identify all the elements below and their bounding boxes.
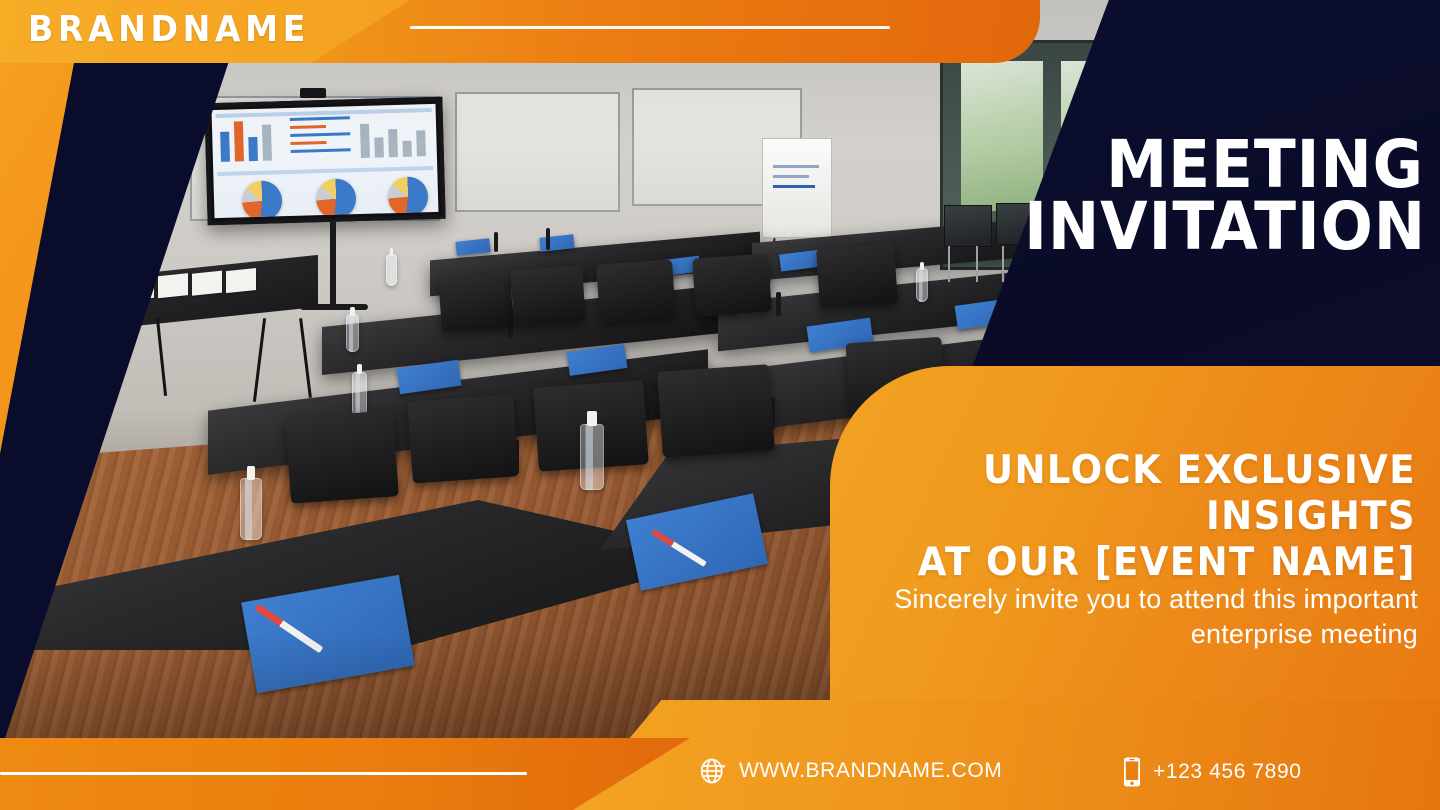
office-chair xyxy=(692,253,772,316)
whiteboard xyxy=(455,92,620,212)
screen-stand xyxy=(330,222,336,308)
bar-chart xyxy=(360,110,426,158)
progress-bars xyxy=(290,116,351,158)
water-bottle xyxy=(352,372,367,416)
website-text: WWW.BRANDNAME.COM xyxy=(739,759,1002,783)
video-camera xyxy=(300,88,326,98)
water-bottle xyxy=(580,424,604,490)
subtext-line-1: Sincerely invite you to attend this impo… xyxy=(894,584,1418,614)
title-line-1: MEETING xyxy=(1024,134,1424,196)
pie-chart xyxy=(387,176,428,217)
flip-chart xyxy=(762,138,832,238)
microphone xyxy=(494,232,498,252)
subtext-line-2: enterprise meeting xyxy=(818,617,1418,652)
microphone xyxy=(776,292,781,316)
phone-icon xyxy=(1122,756,1142,788)
headline-line-1: UNLOCK EXCLUSIVE INSIGHTS xyxy=(983,448,1416,539)
page-title: MEETING INVITATION xyxy=(994,134,1424,258)
office-chair xyxy=(510,266,586,327)
water-bottle xyxy=(346,314,359,352)
bar-chart xyxy=(220,114,272,161)
office-chair xyxy=(407,394,518,483)
microphone xyxy=(546,228,550,250)
title-line-2: INVITATION xyxy=(1024,196,1424,258)
presentation-screen xyxy=(204,97,445,226)
slide-band xyxy=(217,166,433,176)
contact-phone[interactable]: +123 456 7890 xyxy=(1122,756,1302,788)
globe-icon xyxy=(698,756,728,786)
pie-chart xyxy=(242,180,283,218)
dashboard-slide xyxy=(212,104,439,218)
brand-name: BRANDNAME xyxy=(28,9,310,50)
office-chair xyxy=(816,243,898,308)
office-chair xyxy=(596,259,676,322)
headline-line-2: AT OUR [EVENT NAME] xyxy=(846,540,1416,586)
phone-text: +123 456 7890 xyxy=(1153,760,1302,784)
contact-website[interactable]: WWW.BRANDNAME.COM xyxy=(698,756,1002,786)
office-chair xyxy=(285,410,399,503)
meeting-invitation-poster: BRANDNAME MEETING INVITATION UNLOCK EXCL… xyxy=(0,0,1440,810)
office-chair xyxy=(438,272,514,333)
footer-rule xyxy=(0,772,527,775)
footer-right-band xyxy=(570,700,1440,810)
water-bottle xyxy=(386,254,397,286)
header-rule xyxy=(410,26,890,29)
pie-chart xyxy=(316,178,357,218)
water-bottle xyxy=(916,268,928,302)
subtext: Sincerely invite you to attend this impo… xyxy=(818,582,1418,652)
stacked-chair xyxy=(944,205,992,247)
office-chair xyxy=(657,364,775,458)
water-bottle xyxy=(240,478,262,540)
headline: UNLOCK EXCLUSIVE INSIGHTS AT OUR [EVENT … xyxy=(846,448,1416,586)
